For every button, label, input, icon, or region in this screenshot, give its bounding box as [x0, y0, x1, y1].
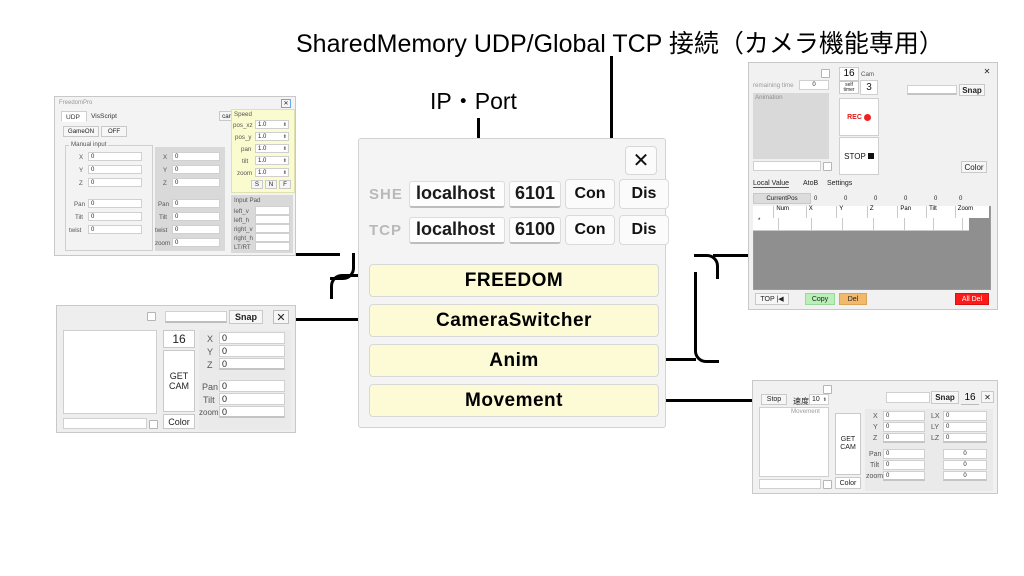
anim-cam-number[interactable]: 16	[839, 67, 859, 81]
anim-th-num: Num	[774, 206, 806, 218]
speed-button-f[interactable]: F	[279, 180, 291, 189]
connection-row-tcp-label: TCP	[369, 222, 405, 239]
she-host-input[interactable]: localhost	[409, 181, 505, 208]
anim-bottom-checkbox[interactable]	[823, 162, 832, 171]
tcp-port-input[interactable]: 6100	[509, 217, 561, 244]
manual-twist-label: twist	[69, 227, 81, 234]
tab-udp-label: UDP	[66, 114, 80, 121]
cs-tilt-input[interactable]: 0	[219, 393, 285, 405]
app-button-cameraswitcher[interactable]: CameraSwitcher	[369, 304, 659, 337]
spinner-icon[interactable]: ⬍	[283, 122, 288, 128]
stop-square-icon	[868, 153, 874, 159]
movement-get-cam-label: GET CAM	[840, 436, 856, 452]
anim-color-button[interactable]: Color	[961, 161, 987, 173]
speed-zoom-input[interactable]: 1.0⬍	[255, 168, 289, 177]
anim-animation-label: Animation	[755, 94, 783, 101]
she-port-input[interactable]: 6101	[509, 181, 561, 208]
cs-x-label: X	[207, 334, 213, 344]
manual-z-label: Z	[79, 180, 83, 187]
anim-th-tilt: Tilt	[927, 206, 956, 218]
cs-y-label: Y	[207, 347, 213, 357]
cameraswitcher-window: Snap ✕ 16 GET CAM Color X 0 Y 0 Z 0 Pan …	[56, 305, 296, 433]
current-tilt-input[interactable]: 0	[172, 212, 220, 221]
cameraswitcher-preview	[63, 330, 157, 414]
speed-posxz-input[interactable]: 1.0⬍	[255, 120, 289, 129]
anim-close-icon[interactable]: ✕	[981, 66, 993, 76]
manual-pan-label: Pan	[74, 201, 85, 208]
app-button-movement[interactable]: Movement	[369, 384, 659, 417]
connector-freedom-curve2	[330, 274, 355, 299]
speed-posy-value: 1.0	[258, 134, 266, 140]
spinner-icon[interactable]: ⬍	[283, 134, 288, 140]
anim-row-x[interactable]	[812, 218, 843, 230]
current-zoom-input[interactable]: 0	[172, 238, 220, 247]
mv-pan-label: Pan	[869, 451, 881, 458]
movement-color-button[interactable]: Color	[835, 477, 861, 489]
current-tilt-label: Tilt	[159, 214, 167, 221]
movement-bottom-checkbox[interactable]	[823, 480, 832, 489]
mv-lx-label: LX	[931, 413, 940, 420]
anim-rec-button[interactable]: REC	[839, 98, 879, 136]
speed-pan-label: pan	[241, 146, 251, 153]
connector-anim-h2	[713, 254, 751, 257]
inputpad-leftv-label: left_v	[234, 208, 249, 215]
movement-bottom-input[interactable]	[759, 479, 821, 489]
cameraswitcher-top-checkbox[interactable]	[147, 312, 156, 321]
anim-all-del-button[interactable]: All Del	[955, 293, 989, 305]
current-twist-input[interactable]: 0	[172, 225, 220, 234]
app-button-freedom[interactable]: FREEDOM	[369, 264, 659, 297]
anim-row-z[interactable]	[874, 218, 905, 230]
off-button[interactable]: OFF	[101, 126, 127, 137]
current-twist-label: twist	[155, 227, 167, 234]
inputpad-rightv-label: right_v	[234, 226, 253, 233]
cs-pan-label: Pan	[202, 382, 218, 392]
tab-visscript-label: VisScript	[91, 113, 117, 120]
movement-label: Movement	[791, 408, 820, 415]
annotation-ip-port: IP・Port	[430, 82, 517, 116]
cameraswitcher-bottom-input[interactable]	[63, 418, 147, 429]
connection-dialog: ✕ SHE localhost 6101 Con Dis TCP localho…	[358, 138, 666, 428]
speed-posxz-label: pos_xz	[233, 122, 253, 129]
anim-table-header: Num X Y Z Pan Tilt Zoom	[753, 206, 989, 218]
speed-group-label: Speed	[234, 111, 252, 118]
cameraswitcher-color-button[interactable]: Color	[163, 414, 195, 429]
anim-tab-settings[interactable]: Settings	[827, 180, 852, 187]
cs-y-input[interactable]: 0	[219, 345, 285, 357]
manual-x-label: X	[79, 154, 83, 161]
she-disconnect-button[interactable]: Dis	[619, 179, 669, 209]
movement-window: Stop 速度 10⬍ Snap 16 ✕ Movement GET CAM C…	[752, 380, 998, 494]
freedompro-title: FreedomPro	[59, 100, 92, 106]
cs-z-label: Z	[207, 360, 213, 370]
speed-posy-label: pos_y	[235, 134, 252, 141]
anim-th-zoom: Zoom	[956, 206, 989, 218]
anim-animation-panel	[753, 93, 829, 159]
anim-row-marker: *	[753, 218, 779, 230]
current-z-label: Z	[163, 180, 167, 187]
anim-currentpos-0[interactable]: 0	[812, 193, 842, 204]
anim-th-y: Y	[837, 206, 868, 218]
mv-zoom-input[interactable]: 0	[883, 471, 925, 481]
manual-tilt-input[interactable]: 0	[88, 212, 142, 221]
anim-top-checkbox[interactable]	[821, 69, 830, 78]
movement-top-checkbox[interactable]	[823, 385, 832, 394]
cameraswitcher-bottom-checkbox[interactable]	[149, 420, 158, 429]
annotation-title: SharedMemory UDP/Global TCP 接続（カメラ機能専用）	[296, 24, 944, 60]
connector-anim-curve1	[694, 338, 719, 363]
current-zoom-label: zoom	[155, 240, 170, 247]
anim-remaining-time-value[interactable]: 0	[799, 80, 829, 90]
mv-rot-right-2[interactable]: 0	[943, 471, 987, 481]
manual-z-input[interactable]: 0	[88, 178, 142, 187]
anim-top-button[interactable]: TOP |◀	[755, 293, 789, 305]
cs-pan-input[interactable]: 0	[219, 380, 285, 392]
anim-th-x: X	[807, 206, 838, 218]
anim-row-y[interactable]	[843, 218, 874, 230]
mv-lx-input[interactable]: 0	[943, 411, 987, 421]
anim-snap-input[interactable]	[907, 85, 957, 95]
inputpad-righth-label: right_h	[234, 235, 253, 242]
cs-z-input[interactable]: 0	[219, 358, 285, 370]
inputpad-leftv-input[interactable]	[255, 206, 290, 215]
anim-cam-label: Cam	[861, 71, 874, 78]
speed-zoom-value: 1.0	[258, 170, 266, 176]
mv-ly-label: LY	[931, 424, 939, 431]
cameraswitcher-cam-number[interactable]: 16	[163, 330, 195, 348]
current-pan-label: Pan	[158, 201, 169, 208]
anim-remaining-time-label: remaining time	[753, 82, 794, 89]
tcp-host-input[interactable]: localhost	[409, 217, 505, 244]
anim-self-timer-label: self timer	[839, 81, 859, 94]
mv-lz-input[interactable]: 0	[943, 433, 987, 443]
tab-udp[interactable]: UDP	[61, 111, 87, 122]
anim-self-timer-text: self timer	[843, 83, 854, 93]
mv-x-input[interactable]: 0	[883, 411, 925, 421]
anim-del-button[interactable]: Del	[839, 293, 867, 305]
inputpad-lefth-input[interactable]	[255, 215, 290, 224]
mv-rot-right-0[interactable]: 0	[943, 449, 987, 459]
cs-zoom-input[interactable]: 0	[219, 406, 285, 418]
freedompro-window: FreedomPro ✕ UDP VisScript cam 16 GameON…	[54, 96, 296, 256]
get-cam-button-label: GET CAM	[169, 371, 189, 391]
movement-close-icon[interactable]: ✕	[981, 391, 994, 403]
connection-row-she-label: SHE	[369, 186, 405, 203]
anim-currentpos-label: CurrentPos	[753, 193, 811, 204]
movement-snap-input[interactable]	[886, 392, 930, 403]
manual-y-label: Y	[79, 167, 83, 174]
anim-bottom-input[interactable]	[753, 161, 821, 171]
table-row[interactable]: *	[753, 218, 969, 231]
speed-tilt-input[interactable]: 1.0⬍	[255, 156, 289, 165]
mv-ly-input[interactable]: 0	[943, 422, 987, 432]
spinner-icon[interactable]: ⬍	[283, 170, 288, 176]
anim-rec-label: REC	[847, 114, 862, 121]
anim-row-num[interactable]	[779, 218, 812, 230]
she-connect-button[interactable]: Con	[565, 179, 615, 209]
anim-tab-atob[interactable]: AtoB	[803, 180, 818, 187]
current-x-input[interactable]: 0	[172, 152, 220, 161]
mv-zoom-label: zoom	[866, 473, 883, 480]
speed-tilt-label: tilt	[242, 158, 248, 165]
movement-get-cam-button[interactable]: GET CAM	[835, 413, 861, 475]
manual-tilt-label: Tilt	[75, 214, 83, 221]
anim-th-blank	[753, 206, 774, 218]
inputpad-rightv-input[interactable]	[255, 224, 290, 233]
anim-currentpos-4[interactable]: 0	[932, 193, 960, 204]
current-y-label: Y	[163, 167, 167, 174]
movement-speed-input[interactable]: 10⬍	[809, 394, 829, 405]
manual-y-input[interactable]: 0	[88, 165, 142, 174]
movement-speed-value: 10	[812, 396, 820, 403]
mv-z-label: Z	[873, 435, 877, 442]
mv-rot-right-1[interactable]: 0	[943, 460, 987, 470]
anim-th-z: Z	[868, 206, 899, 218]
mv-y-input[interactable]: 0	[883, 422, 925, 432]
input-pad-group-label: Input Pad	[234, 197, 261, 204]
manual-twist-input[interactable]: 0	[88, 225, 142, 234]
cs-zoom-label: zoom	[199, 408, 219, 417]
anim-currentpos-2[interactable]: 0	[872, 193, 902, 204]
inputpad-ltrt-label: LT/RT	[234, 244, 251, 251]
cameraswitcher-snap-input[interactable]	[165, 311, 227, 323]
speed-pan-value: 1.0	[258, 146, 266, 152]
cameraswitcher-snap-button[interactable]: Snap	[229, 310, 263, 324]
tcp-connect-button[interactable]: Con	[565, 215, 615, 245]
mv-tilt-label: Tilt	[870, 462, 879, 469]
anim-row-pan[interactable]	[905, 218, 934, 230]
mv-y-label: Y	[873, 424, 878, 431]
connector-anim-curve2	[694, 254, 719, 279]
spinner-icon[interactable]: ⬍	[283, 158, 288, 164]
connector-anim-v	[694, 272, 697, 340]
speed-posy-input[interactable]: 1.0⬍	[255, 132, 289, 141]
mv-lz-label: LZ	[931, 435, 939, 442]
mv-x-label: X	[873, 413, 878, 420]
anim-copy-button[interactable]: Copy	[805, 293, 835, 305]
app-button-anim[interactable]: Anim	[369, 344, 659, 377]
anim-snap-button[interactable]: Snap	[959, 84, 985, 96]
mv-pan-input[interactable]: 0	[883, 449, 925, 459]
spinner-icon[interactable]: ⬍	[283, 146, 288, 152]
speed-pan-input[interactable]: 1.0⬍	[255, 144, 289, 153]
speed-button-n[interactable]: N	[265, 180, 277, 189]
cameraswitcher-close-icon[interactable]: ✕	[273, 310, 289, 324]
movement-preview	[759, 407, 829, 477]
anim-tab-local-value[interactable]: Local Value	[753, 180, 789, 188]
manual-x-input[interactable]: 0	[88, 152, 142, 161]
get-cam-button[interactable]: GET CAM	[163, 350, 195, 412]
mv-z-input[interactable]: 0	[883, 433, 925, 443]
cs-tilt-label: Tilt	[203, 395, 215, 405]
anim-currentpos-5[interactable]: 0	[957, 193, 985, 204]
anim-th-pan: Pan	[898, 206, 927, 218]
current-y-input[interactable]: 0	[172, 165, 220, 174]
mv-tilt-input[interactable]: 0	[883, 460, 925, 470]
manual-pan-input[interactable]: 0	[88, 199, 142, 208]
anim-row-tilt[interactable]	[934, 218, 963, 230]
manual-input-group-label: Manual input	[69, 141, 108, 148]
current-x-label: X	[163, 154, 167, 161]
speed-tilt-value: 1.0	[258, 158, 266, 164]
movement-cam-number[interactable]: 16	[961, 391, 979, 405]
connection-row-she: SHE localhost 6101 Con Dis	[369, 179, 669, 209]
anim-stop-label: STOP	[844, 152, 866, 161]
movement-speed-label: 速度	[793, 396, 809, 407]
cs-x-input[interactable]: 0	[219, 332, 285, 344]
movement-snap-button[interactable]: Snap	[931, 391, 959, 404]
gameon-button[interactable]: GameON	[63, 126, 99, 137]
inputpad-righth-input[interactable]	[255, 233, 290, 242]
anim-window: ✕ remaining time 0 Animation 16 Cam self…	[748, 62, 998, 310]
connector-movement-line	[650, 399, 762, 402]
current-z-input[interactable]: 0	[172, 178, 220, 187]
inputpad-lefth-label: left_h	[234, 217, 249, 224]
anim-self-timer-value[interactable]: 3	[860, 80, 878, 95]
movement-stop-button[interactable]: Stop	[761, 394, 787, 405]
freedompro-close-icon[interactable]: ✕	[281, 99, 291, 108]
speed-button-s[interactable]: S	[251, 180, 263, 189]
anim-currentpos-1[interactable]: 0	[842, 193, 872, 204]
tcp-disconnect-button[interactable]: Dis	[619, 215, 669, 245]
anim-stop-button[interactable]: STOP	[839, 137, 879, 175]
inputpad-ltrt-input[interactable]	[255, 242, 290, 251]
close-icon[interactable]: ✕	[625, 146, 657, 175]
current-pan-input[interactable]: 0	[172, 199, 220, 208]
speed-zoom-label: zoom	[237, 170, 252, 177]
anim-currentpos-3[interactable]: 0	[902, 193, 932, 204]
record-dot-icon	[864, 114, 871, 121]
spinner-icon[interactable]: ⬍	[823, 397, 828, 403]
connection-row-tcp: TCP localhost 6100 Con Dis	[369, 215, 669, 245]
tab-visscript[interactable]: VisScript	[89, 111, 129, 122]
speed-posxz-value: 1.0	[258, 122, 266, 128]
